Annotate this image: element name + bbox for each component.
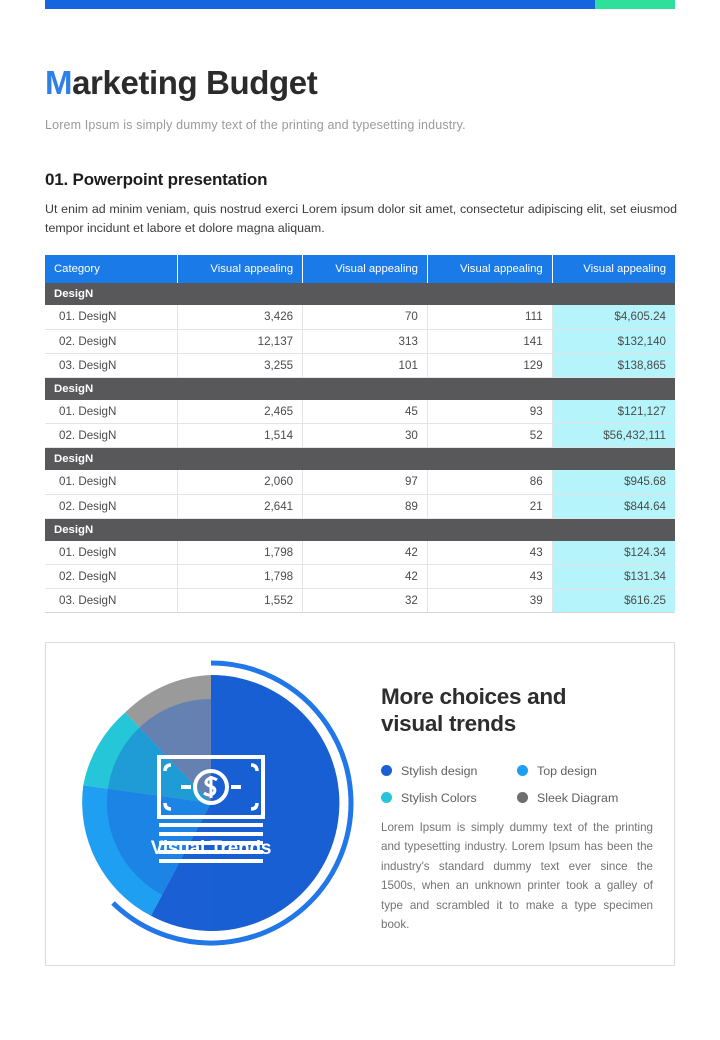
cell-value-1: 3,426 bbox=[178, 305, 303, 329]
column-header-2[interactable]: Visual appealing bbox=[303, 255, 428, 283]
table-group-label: DesigN bbox=[45, 377, 675, 400]
table-row: 02. DesigN1,7984243$131.34 bbox=[45, 565, 675, 589]
cell-value-2: 97 bbox=[303, 470, 428, 494]
cell-value-1: 2,060 bbox=[178, 470, 303, 494]
cell-value-3: 141 bbox=[427, 329, 552, 353]
page-title: Marketing Budget bbox=[45, 66, 317, 99]
cell-category: 03. DesigN bbox=[45, 589, 178, 613]
cell-value-2: 42 bbox=[303, 541, 428, 565]
column-header-category[interactable]: Category bbox=[45, 255, 178, 283]
legend-label: Stylish design bbox=[401, 764, 477, 778]
cell-value-2: 89 bbox=[303, 494, 428, 518]
column-header-3[interactable]: Visual appealing bbox=[427, 255, 552, 283]
legend-item-stylish-colors[interactable]: Stylish Colors bbox=[381, 791, 517, 805]
table-group-row: DesigN bbox=[45, 283, 675, 305]
cell-value-1: 12,137 bbox=[178, 329, 303, 353]
legend-item-sleek-diagram[interactable]: Sleek Diagram bbox=[517, 791, 653, 805]
legend-dot-icon bbox=[517, 792, 528, 803]
pie-chart: Visual Trends bbox=[61, 653, 361, 953]
cell-value-3: 111 bbox=[427, 305, 552, 329]
top-accent-green bbox=[595, 0, 675, 9]
cell-value-4: $121,127 bbox=[552, 400, 675, 424]
top-accent-blue bbox=[45, 0, 595, 9]
section-body-text: Ut enim ad minim veniam, quis nostrud ex… bbox=[45, 200, 677, 238]
cell-value-4: $124.34 bbox=[552, 541, 675, 565]
visual-trends-card: Visual Trends More choices and visual tr… bbox=[45, 642, 675, 966]
column-header-1[interactable]: Visual appealing bbox=[178, 255, 303, 283]
table-row: 03. DesigN1,5523239$616.25 bbox=[45, 589, 675, 613]
cell-value-1: 1,798 bbox=[178, 565, 303, 589]
table-row: 02. DesigN1,5143052$56,432,111 bbox=[45, 424, 675, 448]
cell-value-1: 1,552 bbox=[178, 589, 303, 613]
cell-value-3: 39 bbox=[427, 589, 552, 613]
main-title-rest: arketing Budget bbox=[72, 64, 317, 101]
top-accent-bar bbox=[45, 0, 675, 9]
cell-value-3: 43 bbox=[427, 565, 552, 589]
cell-value-3: 86 bbox=[427, 470, 552, 494]
main-title-accent-letter: M bbox=[45, 64, 72, 101]
cell-value-2: 70 bbox=[303, 305, 428, 329]
cell-value-3: 21 bbox=[427, 494, 552, 518]
cell-value-1: 3,255 bbox=[178, 353, 303, 377]
cell-value-4: $616.25 bbox=[552, 589, 675, 613]
table-header: Category Visual appealing Visual appeali… bbox=[45, 255, 675, 283]
cell-category: 01. DesigN bbox=[45, 305, 178, 329]
main-title: Marketing Budget bbox=[45, 66, 317, 99]
cell-value-4: $4,605.24 bbox=[552, 305, 675, 329]
cell-value-2: 101 bbox=[303, 353, 428, 377]
column-header-4[interactable]: Visual appealing bbox=[552, 255, 675, 283]
card-title: More choices and visual trends bbox=[381, 683, 656, 738]
table-group-row: DesigN bbox=[45, 518, 675, 541]
page-subtitle: Lorem Ipsum is simply dummy text of the … bbox=[45, 118, 466, 132]
table-body: DesigN01. DesigN3,42670111$4,605.2402. D… bbox=[45, 283, 675, 613]
cell-value-2: 30 bbox=[303, 424, 428, 448]
table-row: 01. DesigN2,4654593$121,127 bbox=[45, 400, 675, 424]
pie-chart-svg bbox=[61, 653, 361, 953]
cell-value-3: 52 bbox=[427, 424, 552, 448]
cell-value-1: 2,641 bbox=[178, 494, 303, 518]
cell-category: 02. DesigN bbox=[45, 565, 178, 589]
legend-label: Stylish Colors bbox=[401, 791, 477, 805]
cell-value-4: $132,140 bbox=[552, 329, 675, 353]
card-content-column: More choices and visual trends Stylish d… bbox=[381, 683, 656, 935]
card-title-line1: More choices and bbox=[381, 683, 656, 710]
cell-value-1: 1,798 bbox=[178, 541, 303, 565]
cell-category: 02. DesigN bbox=[45, 424, 178, 448]
cell-value-2: 32 bbox=[303, 589, 428, 613]
legend-dot-icon bbox=[381, 792, 392, 803]
table-header-row: Category Visual appealing Visual appeali… bbox=[45, 255, 675, 283]
table-row: 02. DesigN2,6418921$844.64 bbox=[45, 494, 675, 518]
cell-value-2: 313 bbox=[303, 329, 428, 353]
legend-label: Sleek Diagram bbox=[537, 791, 618, 805]
cell-category: 01. DesigN bbox=[45, 470, 178, 494]
cell-value-2: 45 bbox=[303, 400, 428, 424]
table-group-label: DesigN bbox=[45, 518, 675, 541]
card-paragraph: Lorem Ipsum is simply dummy text of the … bbox=[381, 818, 653, 935]
table-row: 01. DesigN3,42670111$4,605.24 bbox=[45, 305, 675, 329]
table-row: 01. DesigN2,0609786$945.68 bbox=[45, 470, 675, 494]
cell-value-4: $844.64 bbox=[552, 494, 675, 518]
table-group-row: DesigN bbox=[45, 448, 675, 471]
cell-category: 02. DesigN bbox=[45, 329, 178, 353]
cell-value-3: 93 bbox=[427, 400, 552, 424]
cell-category: 01. DesigN bbox=[45, 400, 178, 424]
table-row: 03. DesigN3,255101129$138,865 bbox=[45, 353, 675, 377]
legend-item-top-design[interactable]: Top design bbox=[517, 764, 653, 778]
table-group-row: DesigN bbox=[45, 377, 675, 400]
cell-value-1: 2,465 bbox=[178, 400, 303, 424]
legend-row: Stylish design Top design bbox=[381, 764, 653, 778]
cell-value-4: $945.68 bbox=[552, 470, 675, 494]
section-heading: 01. Powerpoint presentation bbox=[45, 170, 267, 190]
legend-row: Stylish Colors Sleek Diagram bbox=[381, 791, 653, 805]
table-group-label: DesigN bbox=[45, 448, 675, 471]
legend-label: Top design bbox=[537, 764, 597, 778]
table-row: 02. DesigN12,137313141$132,140 bbox=[45, 329, 675, 353]
budget-table: Category Visual appealing Visual appeali… bbox=[45, 255, 675, 613]
cell-value-4: $138,865 bbox=[552, 353, 675, 377]
cell-category: 03. DesigN bbox=[45, 353, 178, 377]
legend-item-stylish-design[interactable]: Stylish design bbox=[381, 764, 517, 778]
cell-value-3: 43 bbox=[427, 541, 552, 565]
card-title-line2: visual trends bbox=[381, 710, 656, 737]
slide-page: Marketing Budget Lorem Ipsum is simply d… bbox=[0, 0, 720, 1040]
cell-value-4: $56,432,111 bbox=[552, 424, 675, 448]
cell-category: 01. DesigN bbox=[45, 541, 178, 565]
budget-table-container: Category Visual appealing Visual appeali… bbox=[45, 255, 675, 613]
legend-dot-icon bbox=[517, 765, 528, 776]
cell-value-4: $131.34 bbox=[552, 565, 675, 589]
table-row: 01. DesigN1,7984243$124.34 bbox=[45, 541, 675, 565]
chart-legend: Stylish design Top design Stylish Colors bbox=[381, 764, 653, 805]
table-group-label: DesigN bbox=[45, 283, 675, 305]
cell-category: 02. DesigN bbox=[45, 494, 178, 518]
cell-value-3: 129 bbox=[427, 353, 552, 377]
cell-value-1: 1,514 bbox=[178, 424, 303, 448]
legend-dot-icon bbox=[381, 765, 392, 776]
cell-value-2: 42 bbox=[303, 565, 428, 589]
